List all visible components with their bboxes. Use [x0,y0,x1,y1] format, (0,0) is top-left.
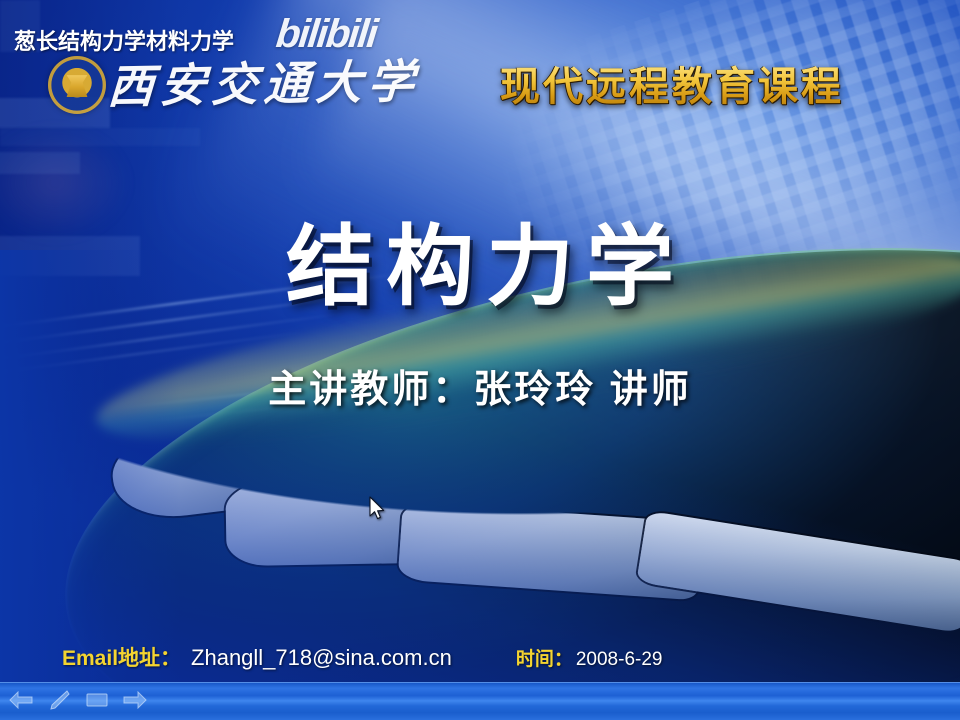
presentation-slide: 葱长结构力学材料力学 bilibili 西安交通大学 现代远程教育课程 结构力学… [0,0,960,720]
menu-rectangle-icon [85,691,109,709]
next-slide-button[interactable] [122,689,148,711]
date-value: 2008-6-29 [576,649,663,671]
pointer-options-button[interactable] [46,689,72,711]
arrow-right-icon [123,691,147,709]
email-value: Zhangll_718@sina.com.cn [191,645,452,671]
email-label: Email地址： [62,642,181,672]
slideshow-control-buttons [8,689,148,711]
background-band [0,128,200,146]
pen-icon [48,690,70,710]
slide-menu-button[interactable] [84,689,110,711]
instructor-line: 主讲教师：张玲玲 讲师 [0,358,960,413]
arrow-left-icon [9,691,33,709]
slide-footer: Email地址： Zhangll_718@sina.com.cn 时间： 200… [62,642,662,672]
university-name-calligraphy: 西安交通大学 [106,45,422,116]
university-seal-icon [48,56,106,114]
previous-slide-button[interactable] [8,689,34,711]
slideshow-control-bar[interactable] [0,682,960,720]
slide-main-title: 结构力学 [0,196,960,323]
metallic-panel [636,511,960,634]
date-label: 时间： [516,644,573,671]
course-program-label: 现代远程教育课程 [500,54,844,112]
background-band [0,152,80,174]
